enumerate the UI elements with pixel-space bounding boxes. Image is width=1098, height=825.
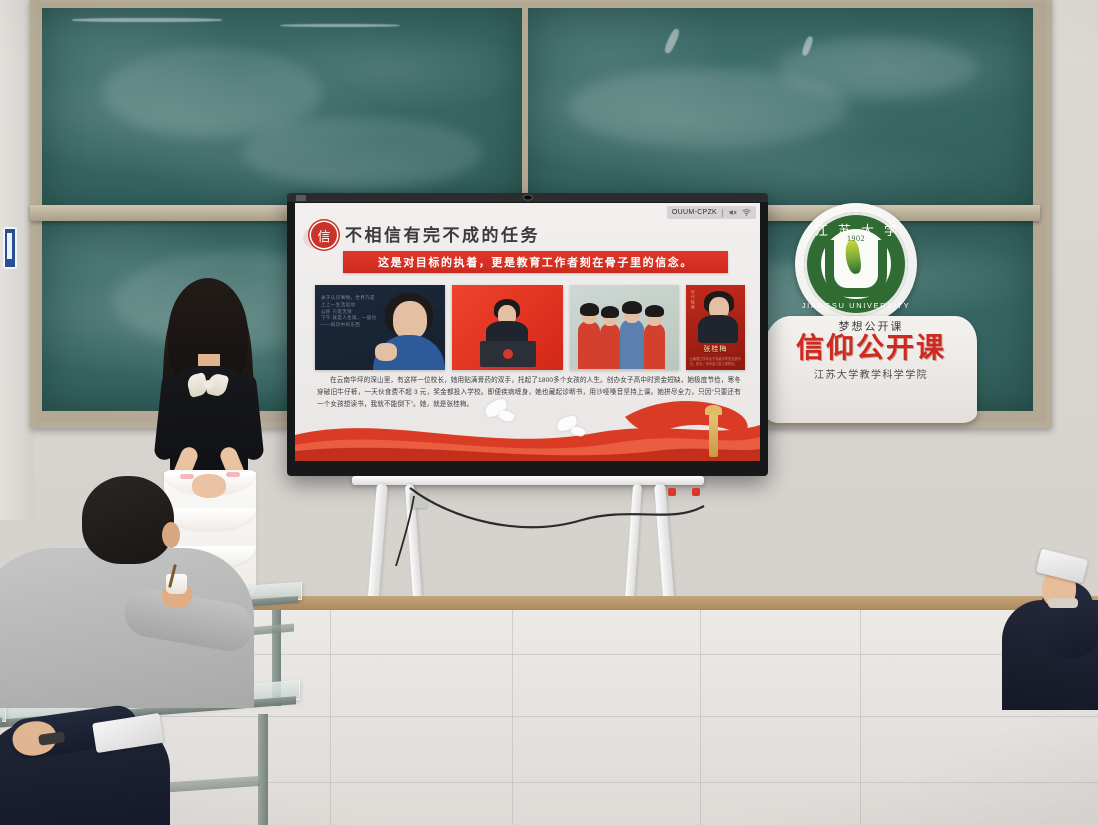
slide-seal-icon: 信 (311, 222, 337, 248)
display-camera-icon (522, 194, 533, 201)
blackboard-pane-top-right (528, 8, 1033, 213)
audience-member-right (972, 548, 1098, 698)
classroom-scene: 江苏大学 1902 JIANGSU UNIVERSITY 梦想公开课 信仰公开课… (0, 0, 1098, 825)
monument-icon (709, 411, 718, 457)
interactive-display[interactable]: OUUM-CPZK 信 不相信有完不成的任务 这是对目标的执着，更是教育工作 (287, 193, 768, 476)
display-cables (352, 480, 712, 570)
display-screen[interactable]: OUUM-CPZK 信 不相信有完不成的任务 这是对目标的执着，更是教育工作 (295, 203, 760, 461)
slide-title: 不相信有完不成的任务 (345, 221, 540, 246)
slide-photo-1: 关于认识事物，世界乃是上上一生活运动公民 只是无限下午 就是人生观，一般也——知… (315, 285, 445, 370)
jiangsu-university-logo: 江苏大学 1902 JIANGSU UNIVERSITY (795, 203, 917, 325)
course-subtitle: 梦想公开课 (839, 321, 904, 333)
logo-year: 1902 (847, 234, 865, 243)
slide-photo-2 (452, 285, 563, 370)
poster-blurb: 云南丽江华坪女子高级中学党支部书记、校长，华坪县儿童之家院长。 (690, 357, 741, 367)
audience-member-front-left (0, 476, 258, 686)
slide-banner: 这是对目标的执着，更是教育工作者刻在骨子里的信念。 (343, 251, 728, 273)
display-status-bar[interactable]: OUUM-CPZK (667, 206, 756, 219)
course-title: 信仰公开课 (796, 334, 946, 363)
audience-member-bottom-left (0, 700, 210, 825)
slide-photo-strip: 关于认识事物，世界乃是上上一生活运动公民 只是无限下午 就是人生观，一般也——知… (315, 285, 745, 370)
slide-photo-3 (570, 285, 679, 370)
mute-icon[interactable] (728, 208, 737, 217)
display-brand-logo (296, 195, 306, 201)
course-department: 江苏大学教学科学学院 (814, 366, 928, 381)
presenter-bow-accessory (188, 370, 228, 400)
audience-3-watch (1048, 598, 1078, 608)
course-title-board: 梦想公开课 信仰公开课 江苏大学教学科学学院 (765, 316, 977, 423)
poster-side-text: 时代楷模 (690, 290, 696, 310)
wifi-icon[interactable] (742, 208, 751, 217)
poster-name: 张桂梅 (703, 344, 727, 354)
slide-photo-4: 时代楷模 张桂梅 云南丽江华坪女子高级中学党支部书记、校长，华坪县儿童之家院长。 (686, 285, 745, 370)
audience-2-watch (38, 731, 65, 746)
slide-ribbon-decoration (295, 395, 760, 461)
wall-notice-sign (3, 227, 17, 269)
blackboard-pane-top-left (42, 8, 522, 213)
slide-banner-text: 这是对目标的执着，更是教育工作者刻在骨子里的信念。 (378, 254, 693, 270)
audience-1-ear (162, 522, 180, 548)
audience-1-head (82, 476, 174, 564)
presentation-slide: OUUM-CPZK 信 不相信有完不成的任务 这是对目标的执着，更是教育工作 (295, 203, 760, 461)
device-label: OUUM-CPZK (672, 209, 717, 216)
logo-en-name: JIANGSU UNIVERSITY (802, 301, 910, 310)
